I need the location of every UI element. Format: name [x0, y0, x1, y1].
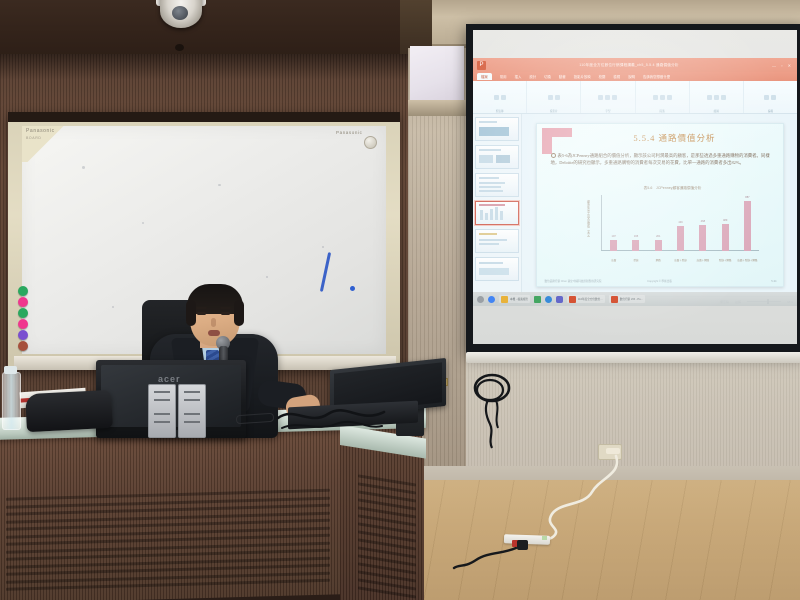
chrome-icon[interactable] — [488, 296, 495, 303]
slide-accent-bar-horizontal — [542, 128, 572, 137]
tab-view[interactable]: 檢視 — [613, 74, 620, 79]
tab-help[interactable]: 說明 — [628, 74, 635, 79]
slide-thumbnail[interactable] — [475, 173, 519, 197]
ribbon-group-paragraph[interactable]: 段落 — [636, 81, 690, 113]
slide-bullet-body: 表5-6為JCPenney通路組合的價值分析，顯示該公司利潤最高的顧客，是那些透… — [551, 153, 770, 165]
whiteboard-top-rail — [8, 112, 400, 122]
replace-icon[interactable] — [771, 95, 776, 100]
bullets-icon[interactable] — [653, 95, 658, 100]
chart-bar: 197店面 — [610, 240, 617, 251]
layout-icon[interactable] — [555, 95, 560, 100]
presenter-hair-side-left — [186, 300, 196, 326]
ribbon-group-slides[interactable]: 投影片 — [527, 81, 581, 113]
ribbon-tab-bar[interactable]: 檔案 常用 插入 設計 切換 動畫 投影片放映 校閱 檢視 說明 告訴我您想做什… — [473, 72, 797, 81]
powerpoint-body: 5.5.4 通路價值分析 表5-6為JCPenney通路組合的價值分析，顯示該公… — [473, 114, 797, 296]
whiteboard-knob[interactable] — [364, 136, 377, 149]
chart-y-axis — [601, 195, 602, 251]
whiteboard-brand-sub: BOARD — [26, 136, 41, 140]
slide-thumbnail-selected[interactable] — [475, 201, 519, 225]
presenter-nose — [211, 318, 216, 327]
ribbon-group-label-slides: 投影片 — [527, 109, 580, 113]
tab-file[interactable]: 檔案 — [477, 73, 492, 80]
ribbon-group-editing[interactable]: 編輯 — [744, 81, 797, 113]
ribbon[interactable]: 剪貼簿 投影片 字型 段落 — [473, 81, 797, 114]
pc-front-panel-right — [178, 384, 206, 438]
tab-home[interactable]: 常用 — [500, 74, 507, 79]
chart-x-tick: 型錄＋網路 — [719, 258, 732, 262]
whiteboard-magnet[interactable] — [18, 330, 28, 340]
slide-thumbnail-panel[interactable] — [473, 114, 522, 296]
chart-bar-value: 489 — [723, 219, 727, 222]
whiteboard-magnet[interactable] — [18, 341, 28, 351]
presenter-eye-right — [221, 312, 230, 315]
chart-bar: 887店面＋型錄＋網路 — [744, 201, 751, 251]
lecture-room-photo: Panasonic BOARD Panasonic P 110年度全方位數位行銷… — [0, 0, 800, 600]
tab-design[interactable]: 設計 — [529, 74, 536, 79]
powerpoint-taskbar-icon-2 — [611, 296, 618, 303]
slide-thumbnail[interactable] — [475, 117, 519, 141]
taskbar-window-explorer[interactable]: 本機 - 檔案總管 — [499, 295, 530, 303]
find-icon[interactable] — [764, 95, 769, 100]
projection-screen-bottom-bar — [466, 352, 800, 363]
cable-coil — [466, 368, 530, 420]
new-slide-icon[interactable] — [548, 95, 553, 100]
slide-page-number: 5-34 — [771, 280, 776, 283]
italic-icon[interactable] — [605, 95, 610, 100]
taskbar-label-powerpoint: 110年度全方位數位… — [578, 297, 603, 301]
tab-slideshow[interactable]: 投影片放映 — [574, 74, 591, 79]
ceiling-sensor-icon — [175, 44, 184, 51]
powerpoint-title-bar: P 110年度全方位數位行銷課程講義_ch5_5.5.4 通路價值分析 — ▫ … — [473, 58, 797, 72]
edge-icon[interactable] — [545, 296, 552, 303]
align-icon[interactable] — [667, 95, 672, 100]
ribbon-group-label-editing: 編輯 — [744, 109, 797, 113]
podium-louver-panel-side — [356, 474, 418, 600]
powerpoint-logo-icon: P — [477, 61, 486, 70]
chart-x-tick: 店面 — [611, 258, 616, 262]
windows-taskbar[interactable]: 本機 - 檔案總管 110年度全方位數位… 數位行銷 ch5 - Po… — [473, 292, 797, 306]
chart-plot-area: 197店面195型錄201網路446店面＋型錄468店面＋網路489型錄＋網路8… — [603, 195, 759, 251]
tab-insert[interactable]: 插入 — [515, 74, 522, 79]
presenter-hair-side-right — [234, 300, 244, 326]
bold-icon[interactable] — [598, 95, 603, 100]
chart-bar: 489型錄＋網路 — [722, 224, 729, 251]
slide-thumbnail[interactable] — [475, 229, 519, 253]
whiteboard-brand-label: Panasonic — [26, 128, 55, 134]
chart-bar: 195型錄 — [632, 240, 639, 251]
slide-bullet-text: 表5-6為JCPenney通路組合的價值分析，顯示該公司利潤最高的顧客，是那些透… — [551, 152, 775, 166]
power-strip-switch[interactable] — [542, 536, 547, 540]
tab-transitions[interactable]: 切換 — [544, 74, 551, 79]
magnet-strip — [0, 0, 1, 1]
slide-thumbnail[interactable] — [475, 257, 519, 281]
water-bottle — [2, 372, 21, 430]
ribbon-group-label-paragraph: 段落 — [636, 109, 689, 113]
tab-animations[interactable]: 動畫 — [559, 74, 566, 79]
ribbon-group-label-font: 字型 — [581, 109, 634, 113]
ribbon-group-drawing[interactable]: 繪圖 — [690, 81, 744, 113]
presenter-mouth — [208, 330, 220, 336]
ribbon-group-font[interactable]: 字型 — [581, 81, 635, 113]
ribbon-group-label-drawing: 繪圖 — [690, 109, 743, 113]
slide-footer-center: Copyright © 學術出版 — [537, 279, 783, 283]
chart-x-tick: 店面＋網路 — [697, 258, 710, 262]
chart-bar-value: 468 — [701, 220, 705, 223]
camera-lens-icon — [172, 6, 188, 20]
water-bottle-cap — [4, 366, 17, 374]
chart-bar-value: 887 — [745, 196, 749, 199]
chart-title: 表5-6 JCPenney顧客通路價值分析 — [585, 186, 761, 191]
chart-x-tick: 型錄 — [633, 258, 638, 262]
chart-ylabel: 顧客年度平均交易價值（美元） — [587, 200, 590, 239]
presenter-eyebrow-right — [220, 307, 231, 309]
numbering-icon[interactable] — [660, 95, 665, 100]
wall-light-panel — [410, 46, 464, 102]
quick-styles-icon[interactable] — [721, 95, 726, 100]
chart-bar: 201網路 — [655, 240, 662, 251]
current-slide[interactable]: 5.5.4 通路價值分析 表5-6為JCPenney通路組合的價值分析，顯示該公… — [536, 123, 784, 287]
start-button-icon[interactable] — [477, 296, 484, 303]
slide-chart: 表5-6 JCPenney顧客通路價值分析 顧客年度平均交易價值（美元） 197… — [585, 186, 761, 264]
chart-bar-value: 446 — [678, 221, 682, 224]
whiteboard-magnet[interactable] — [18, 319, 28, 329]
chart-bar: 468店面＋網路 — [699, 225, 706, 251]
ribbon-group-clipboard[interactable]: 剪貼簿 — [473, 81, 527, 113]
window-controls[interactable]: — ▫ ✕ — [772, 63, 793, 68]
projection-screen[interactable]: P 110年度全方位數位行銷課程講義_ch5_5.5.4 通路價值分析 — ▫ … — [473, 30, 797, 344]
chart-x-tick: 店面＋型錄 — [674, 258, 687, 262]
tell-me-box[interactable]: 告訴我您想做什麼 — [643, 74, 670, 79]
teams-icon[interactable] — [556, 296, 563, 303]
presenter-eye-left — [197, 312, 206, 315]
powerpoint-taskbar-icon — [569, 296, 576, 303]
slide-editing-stage[interactable]: 5.5.4 通路價值分析 表5-6為JCPenney通路組合的價值分析，顯示該公… — [522, 114, 797, 296]
slide-thumbnail[interactable] — [475, 145, 519, 169]
pillar-trim — [408, 100, 466, 116]
chart-bar-value: 197 — [612, 235, 616, 238]
whiteboard-magnet[interactable] — [18, 308, 28, 318]
black-bag — [25, 390, 113, 432]
taskbar-label-powerpoint-2: 數位行銷 ch5 - Po… — [620, 297, 643, 301]
whiteboard-brand-label-right: Panasonic — [336, 130, 362, 135]
shapes-icon[interactable] — [707, 95, 712, 100]
file-explorer-icon — [501, 296, 508, 303]
chart-bar: 446店面＋型錄 — [677, 226, 684, 251]
whiteboard-blue-mark — [350, 286, 355, 291]
document-title: 110年度全方位數位行銷課程講義_ch5_5.5.4 通路價值分析 — [486, 63, 772, 68]
floor-cable — [450, 540, 530, 596]
chart-x-tick: 店面＋型錄＋網路 — [737, 258, 757, 262]
wall-shadow — [0, 54, 410, 80]
excel-icon[interactable] — [534, 296, 541, 303]
desk-cable-bundle — [276, 400, 386, 434]
slide-title: 5.5.4 通路價值分析 — [581, 132, 769, 144]
powerpoint-window[interactable]: P 110年度全方位數位行銷課程講義_ch5_5.5.4 通路價值分析 — ▫ … — [473, 58, 797, 306]
chart-bar-value: 201 — [656, 235, 660, 238]
chart-bar-value: 195 — [634, 235, 638, 238]
underline-icon[interactable] — [612, 95, 617, 100]
cut-icon[interactable] — [501, 95, 506, 100]
arrange-icon[interactable] — [714, 95, 719, 100]
tab-review[interactable]: 校閱 — [599, 74, 606, 79]
presenter-eyebrow-left — [196, 307, 207, 309]
power-cable — [500, 452, 630, 548]
taskbar-label-explorer: 本機 - 檔案總管 — [510, 297, 528, 301]
taskbar-window-powerpoint[interactable]: 110年度全方位數位… — [567, 295, 605, 303]
chart-x-tick: 網路 — [656, 258, 661, 262]
ribbon-group-label-clipboard: 剪貼簿 — [473, 109, 526, 113]
taskbar-window-powerpoint-2[interactable]: 數位行銷 ch5 - Po… — [609, 295, 645, 303]
pc-front-panel-left — [148, 384, 176, 438]
paste-icon[interactable] — [494, 95, 499, 100]
whiteboard-magnet[interactable] — [18, 286, 28, 296]
whiteboard-magnet[interactable] — [18, 297, 28, 307]
podium-louver-panel — [0, 489, 336, 600]
bullet-icon — [551, 153, 556, 158]
monitor-brand-label: acer — [158, 374, 181, 384]
